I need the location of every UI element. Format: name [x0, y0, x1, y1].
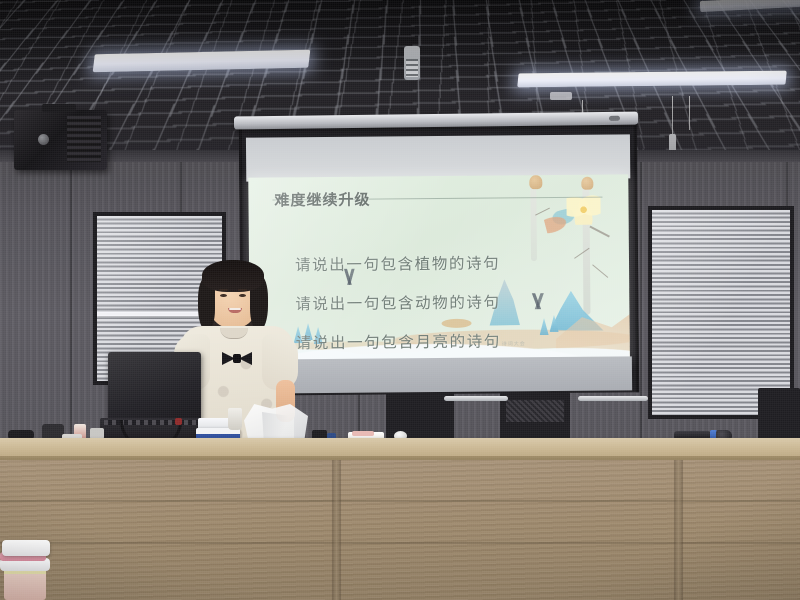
- rear-rail-b: [578, 396, 648, 401]
- wall-seam-1: [70, 150, 72, 450]
- presenter-bow-knot: [233, 354, 241, 363]
- slide-vase-left-icon: [529, 175, 542, 189]
- slide-branch-4: [535, 208, 550, 216]
- rear-chair-mesh: [506, 400, 564, 422]
- thermos-lid: [2, 540, 50, 556]
- slide-tree-trunk-right-icon: [582, 183, 590, 315]
- laptop: [108, 352, 201, 424]
- presenter-hair-fringe: [202, 260, 264, 292]
- podium-seam-2: [674, 460, 683, 600]
- pink-white-thermos: [0, 540, 52, 600]
- right-window-glow: [652, 210, 790, 415]
- slide-leaf-icon: [543, 208, 577, 235]
- rear-rail-a: [444, 396, 508, 401]
- slide-line-1: 请说出一句包含植物的诗句: [295, 251, 500, 275]
- slide-branch-2: [574, 248, 590, 259]
- cable-connector: [175, 418, 182, 425]
- slide-title: 难度继续升级: [274, 189, 370, 211]
- wall-speaker: [14, 110, 107, 170]
- paper-cup: [228, 408, 242, 430]
- slide-branch-3: [592, 264, 608, 278]
- slide-ridge: [555, 306, 629, 359]
- slide-watermark: 诗词大会: [502, 340, 526, 347]
- presenter-eye-right: [239, 294, 246, 297]
- speaker-grill: [67, 116, 101, 162]
- slide-line-3: 请说出一句包含月亮的诗句: [296, 329, 501, 353]
- presenter-brow-left: [219, 289, 228, 291]
- speaker-knob: [38, 134, 49, 145]
- slide-content: 难度继续升级 请说出一句包含植物的诗句 请说出一句包含动物的诗句 请说出一句包含…: [248, 174, 630, 363]
- pink-paper: [352, 431, 374, 436]
- slide-vase-right-icon: [581, 177, 593, 190]
- slide-pine-4: [540, 318, 549, 335]
- wall-seam-4: [640, 150, 642, 450]
- rear-cabinet-right: [758, 388, 800, 440]
- slide-bird-right-icon: [517, 293, 559, 309]
- thermos-body: [4, 570, 46, 600]
- screen-blank-bottom: [248, 356, 632, 393]
- slide-pine-5: [549, 315, 558, 332]
- speaker-bracket: [42, 104, 76, 112]
- screen-frame: 难度继续升级 请说出一句包含植物的诗句 请说出一句包含动物的诗句 请说出一句包含…: [239, 124, 639, 395]
- slide-branch-1: [590, 226, 610, 238]
- slide-tree-trunk-left-icon: [530, 181, 537, 261]
- presenter-brow-right: [238, 289, 247, 291]
- podium-seam-1: [332, 460, 341, 600]
- presenter-eye-left: [220, 294, 227, 297]
- slide-flower-icon: [566, 195, 600, 225]
- slide-tan-cloud: [442, 319, 472, 328]
- classroom-photo: 难度继续升级 请说出一句包含植物的诗句 请说出一句包含动物的诗句 请说出一句包含…: [0, 0, 800, 600]
- slide-mountain-2: [549, 291, 603, 331]
- projector-screen: 难度继续升级 请说出一句包含植物的诗句 请说出一句包含动物的诗句 请说出一句包含…: [240, 118, 632, 396]
- slide-line-2: 请说出一句包含动物的诗句: [295, 290, 500, 314]
